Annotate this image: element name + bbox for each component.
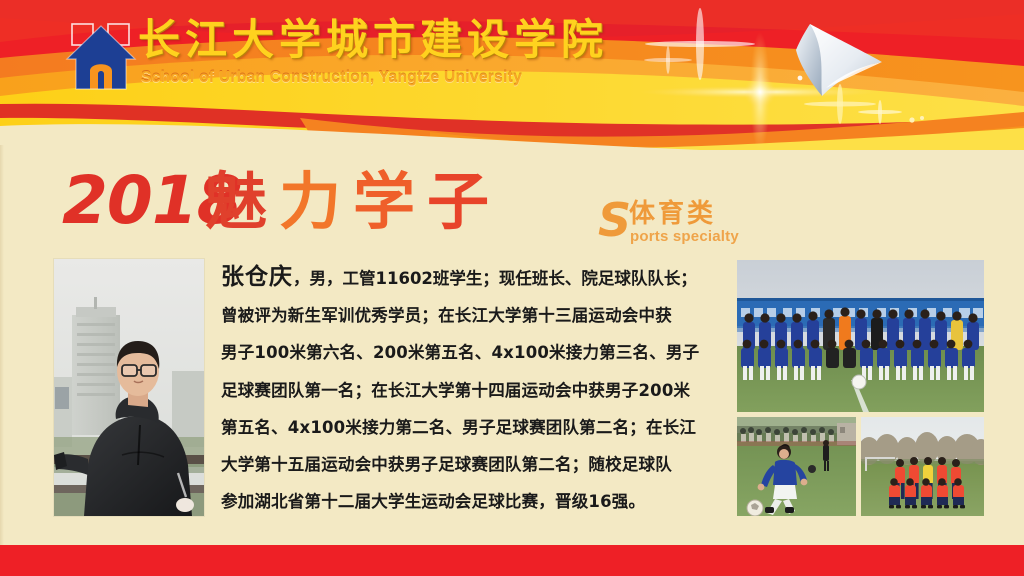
title-headline: 魅力学子 [205,168,501,236]
bio-line-2: 曾被评为新生军训优秀学员；在长江大学第十三届运动会中获 [221,297,711,334]
action-shot-photo [737,417,856,516]
category-label-cn: 体育类 [629,200,716,228]
bio-line-6: 大学第十五届运动会中获男子足球赛团队第二名；随校足球队 [221,446,711,483]
bio-line-1-rest: ，男，工管11602班学生；现任班长、院足球队队长； [293,269,697,288]
category-initial: S [598,197,631,243]
bio-line-3: 男子100米第六名、200米第五名、4x100米接力第三名、男子 [221,334,711,371]
poster-canvas: 长江大学城市建设学院 School of Urban Construction,… [0,0,1024,576]
squad-red-photo [861,417,984,516]
headline-char-3: 学 [353,165,427,238]
headline-char-2: 力 [279,165,353,238]
student-portrait-photo [54,259,204,516]
category-badge: S 体育类 ports specialty [598,199,748,249]
headline-char-4: 子 [427,165,501,238]
headline-char-1: 魅 [205,165,279,238]
student-name: 张仓庆 [221,264,293,290]
bio-line-5: 第五名、4x100米接力第二名、男子足球赛团队第二名；在长江 [221,409,711,446]
category-label-en: ports specialty [630,229,739,245]
bio-line-4: 足球赛团队第一名；在长江大学第十四届运动会中获男子200米 [221,372,711,409]
footer-red-bar [0,545,1024,576]
bio-line-1: 张仓庆，男，工管11602班学生；现任班长、院足球队队长； [221,259,711,297]
school-name-cn: 长江大学城市建设学院 [138,16,608,64]
header-banner: 长江大学城市建设学院 School of Urban Construction,… [0,0,1024,150]
bio-line-7: 参加湖北省第十二届大学生运动会足球比赛，晋级16强。 [221,483,711,520]
left-edge-shadow [0,145,4,545]
team-group-photo [737,260,984,412]
house-logo-icon [63,19,141,95]
bio-text-block: 张仓庆，男，工管11602班学生；现任班长、院足球队队长； 曾被评为新生军训优秀… [221,259,711,520]
school-name-en: School of Urban Construction, Yangtze Un… [141,69,522,87]
photo-gallery [737,260,984,516]
